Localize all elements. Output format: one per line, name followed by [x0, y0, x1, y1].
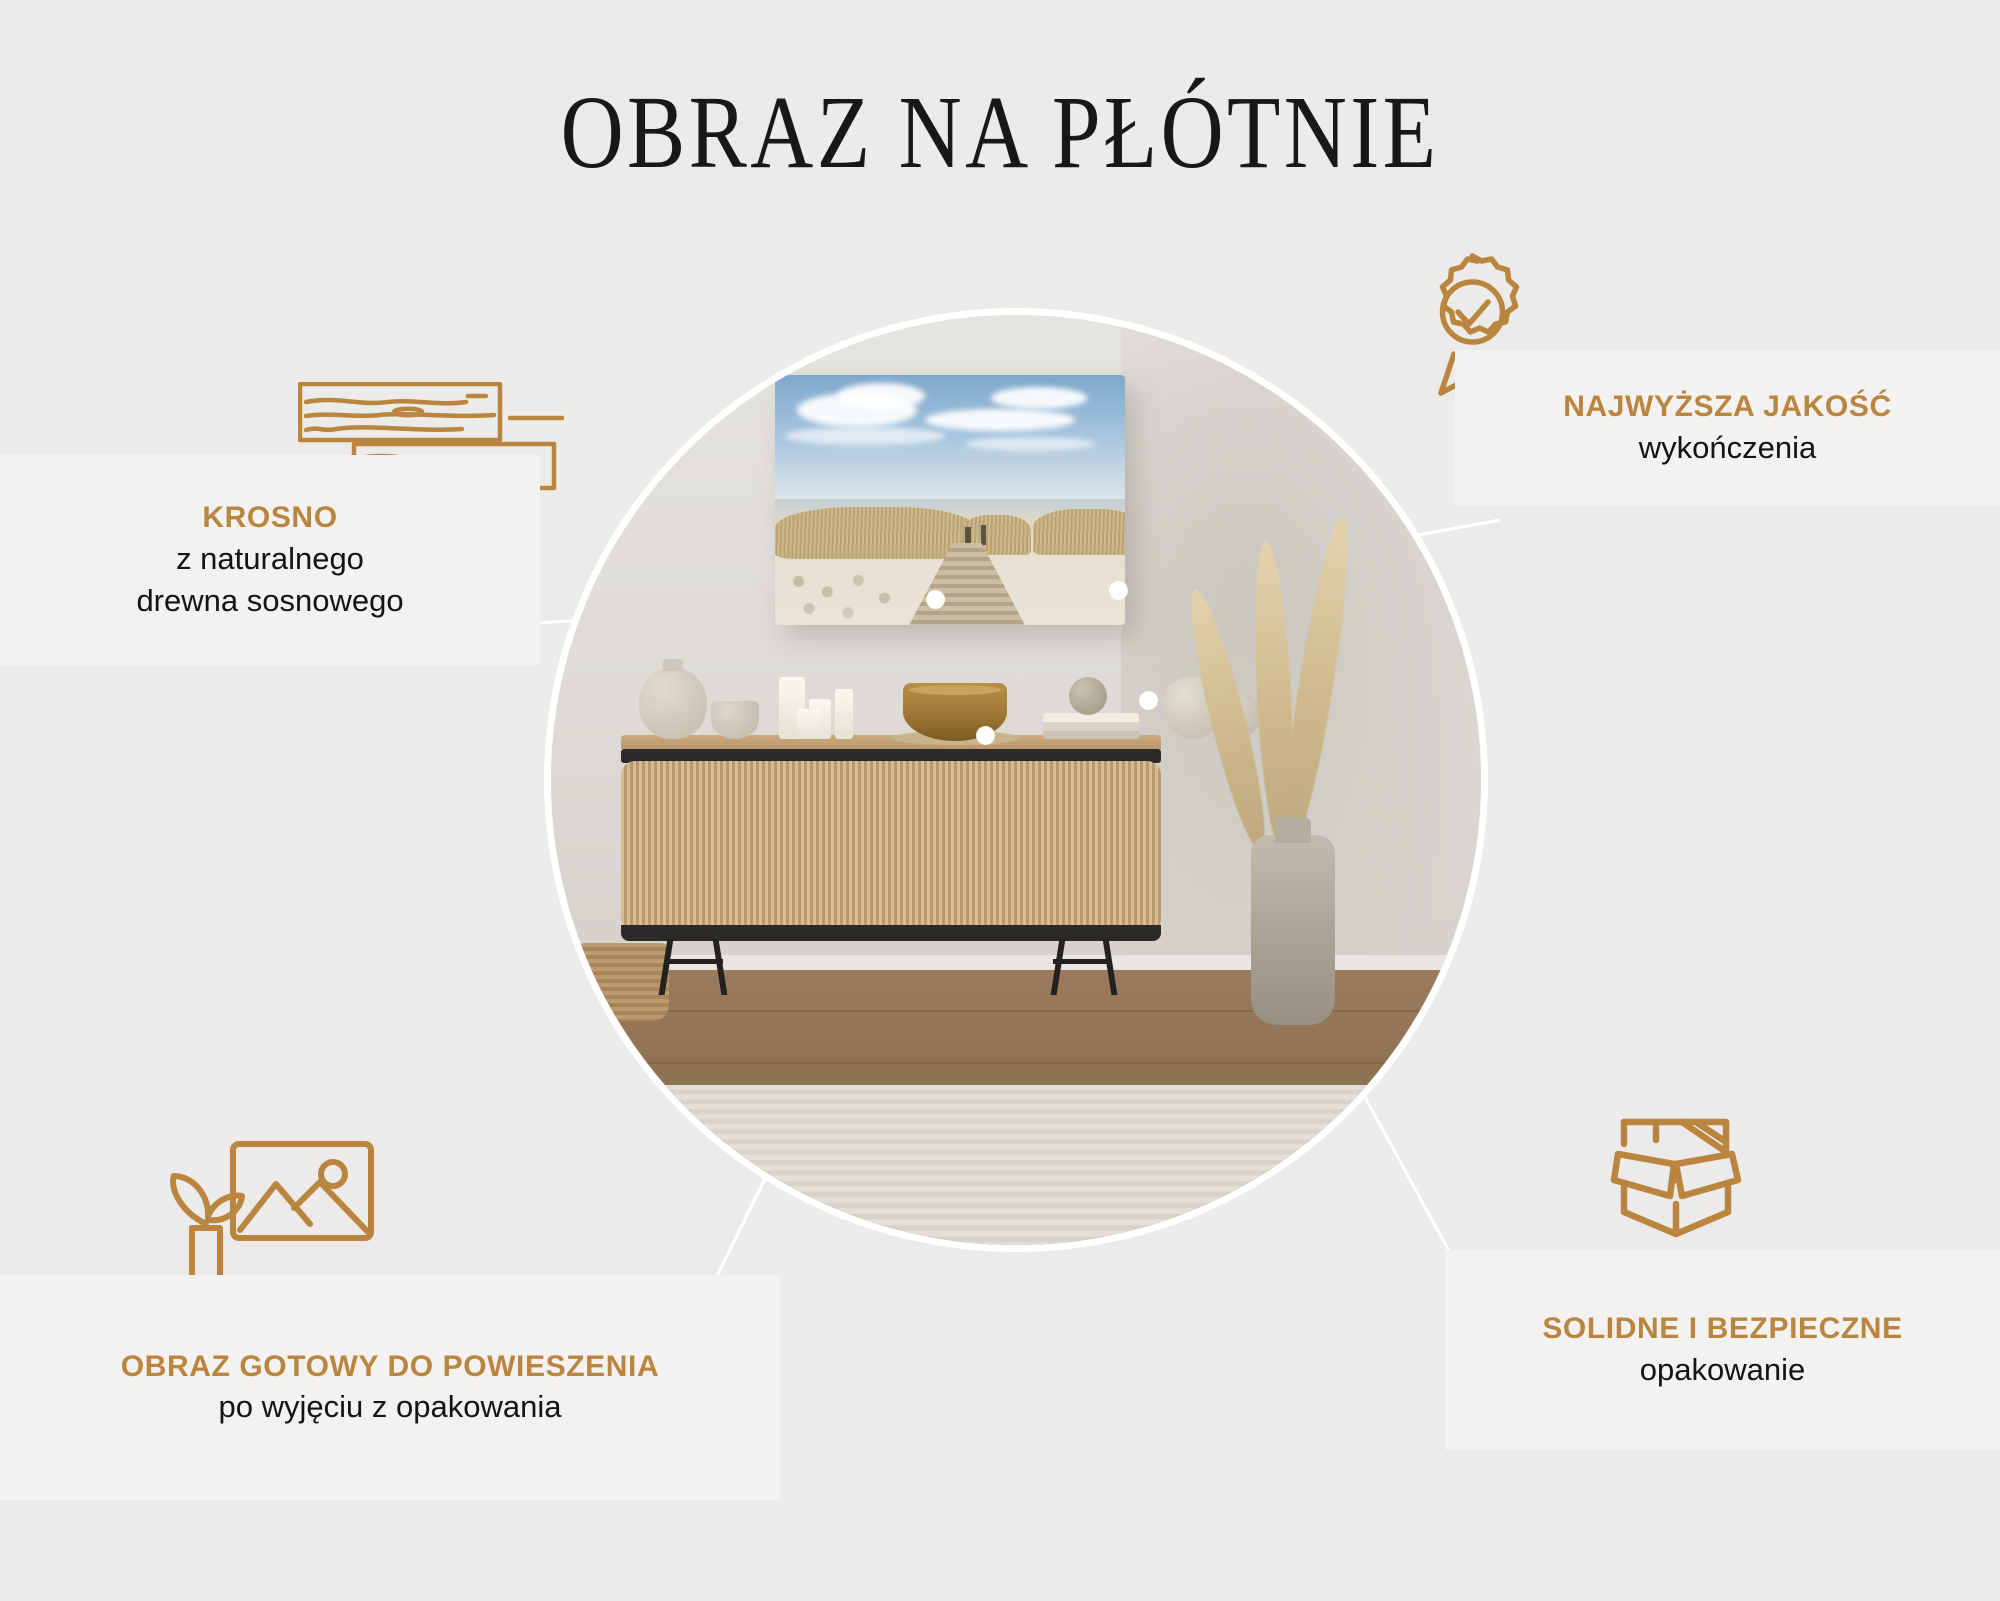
artwork-dune-grass — [775, 507, 975, 559]
connector-dot-krosno — [927, 591, 944, 608]
small-ceramic-bowl — [711, 701, 759, 739]
pillar-candle — [835, 689, 853, 739]
feature-subtitle-gotowy: po wyjęciu z opakowania — [219, 1387, 562, 1426]
feature-card-jakosc: NAJWYŻSZA JAKOŚĆ wykończenia — [1455, 350, 2000, 506]
feature-subtitle-jakosc: wykończenia — [1639, 428, 1816, 467]
feature-title-gotowy: OBRAZ GOTOWY DO POWIESZENIA — [121, 1349, 659, 1384]
feature-subtitle-krosno-line2: drewna sosnowego — [136, 581, 403, 620]
area-rug — [551, 1085, 1481, 1245]
connector-dot-gotowy — [977, 727, 994, 744]
canvas-artwork — [775, 375, 1125, 625]
stacked-books — [1043, 713, 1139, 739]
stone-floor-vase — [1251, 835, 1335, 1025]
pillar-candle — [797, 709, 821, 739]
room-scene-circle — [551, 315, 1481, 1245]
artwork-footprints — [783, 571, 913, 623]
connector-dot-opakowanie — [1140, 692, 1157, 709]
page-title: OBRAZ NA PŁÓTNIE — [160, 78, 1840, 187]
feature-title-opakowanie: SOLIDNE I BEZPIECZNE — [1542, 1311, 1902, 1346]
open-box-icon — [1600, 1100, 1750, 1255]
feature-card-gotowy: OBRAZ GOTOWY DO POWIESZENIA po wyjęciu z… — [0, 1275, 780, 1500]
room-photo — [551, 315, 1481, 1245]
infographic-canvas: OBRAZ NA PŁÓTNIE — [0, 0, 2000, 1601]
round-ceramic-vase — [639, 667, 707, 739]
feature-title-krosno: KROSNO — [202, 500, 337, 535]
feature-title-jakosc: NAJWYŻSZA JAKOŚĆ — [1563, 389, 1892, 424]
feature-subtitle-opakowanie: opakowanie — [1640, 1350, 1805, 1389]
feature-card-opakowanie: SOLIDNE I BEZPIECZNE opakowanie — [1445, 1250, 2000, 1450]
connector-dot-jakosc — [1110, 582, 1127, 599]
feature-subtitle-krosno-line1: z naturalnego — [176, 539, 364, 578]
sideboard-furniture — [621, 735, 1161, 965]
feature-card-krosno: KROSNO z naturalnego drewna sosnowego — [0, 455, 540, 665]
decorative-stone-sphere — [1069, 677, 1107, 715]
